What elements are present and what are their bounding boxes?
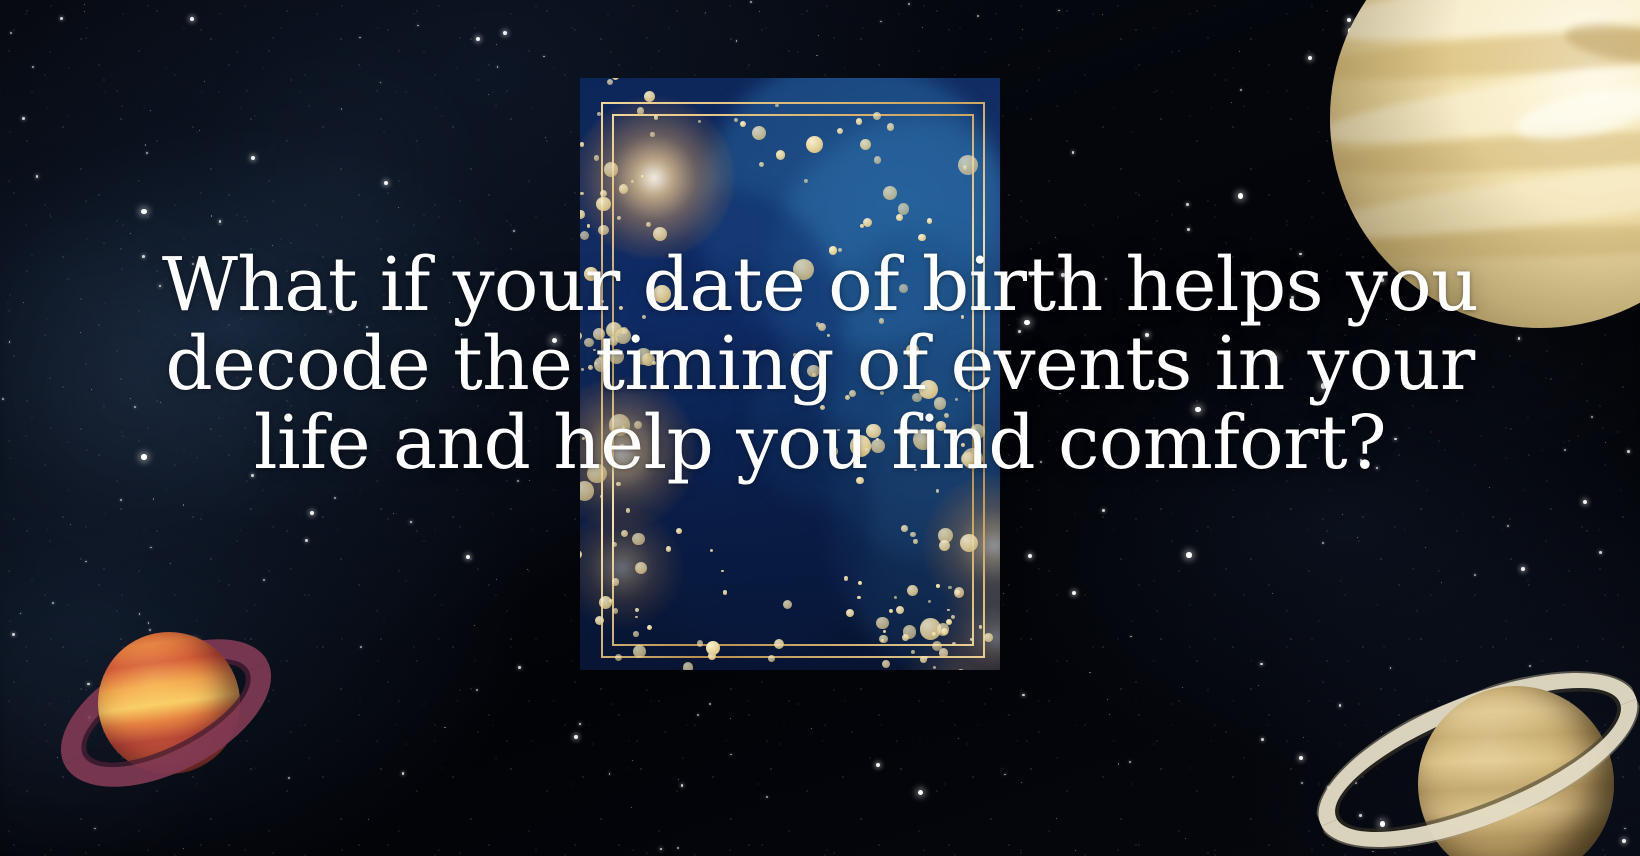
gold-speck — [604, 162, 619, 177]
gold-speck — [928, 600, 931, 603]
gold-speck — [698, 120, 701, 123]
saturn-bottom-right — [1300, 638, 1640, 856]
star — [1342, 514, 1343, 515]
gold-speck — [654, 115, 659, 120]
gold-speck — [587, 224, 590, 227]
gold-speck — [913, 539, 918, 544]
star — [150, 110, 151, 111]
star — [199, 130, 200, 131]
gold-speck — [632, 533, 645, 546]
star — [632, 760, 633, 761]
star — [360, 646, 362, 648]
star — [183, 504, 184, 505]
gold-speck — [734, 118, 738, 122]
gold-speck — [927, 218, 932, 223]
star — [697, 714, 699, 716]
gold-speck — [633, 645, 647, 659]
star — [146, 152, 148, 154]
gold-speck — [911, 650, 915, 654]
gold-speck — [768, 655, 775, 662]
gold-speck — [723, 590, 728, 595]
gold-speck — [882, 660, 890, 668]
gold-speck — [898, 203, 909, 214]
gold-speck — [846, 609, 854, 617]
gold-speck — [633, 631, 639, 637]
gold-speck — [580, 550, 582, 560]
star — [1357, 537, 1358, 538]
gold-speck — [860, 224, 864, 228]
star — [384, 181, 388, 185]
gold-speck — [902, 634, 909, 641]
gold-speck — [609, 599, 613, 603]
gold-speck — [740, 121, 746, 127]
gold-speck — [595, 616, 604, 625]
star — [141, 209, 147, 215]
gold-speck — [612, 542, 617, 547]
gold-speck — [948, 586, 952, 590]
gold-speck — [896, 214, 903, 221]
star — [398, 207, 399, 208]
gold-speck — [894, 596, 897, 599]
gold-speck — [954, 587, 965, 598]
gold-speck — [600, 495, 603, 498]
star — [1187, 228, 1190, 231]
gold-speck — [920, 656, 927, 663]
gold-speck — [597, 112, 602, 117]
gold-speck — [958, 155, 978, 175]
gold-speck — [951, 615, 955, 619]
saturn-bottom-left — [48, 598, 284, 830]
gold-speck — [600, 190, 607, 197]
star — [681, 784, 684, 787]
gold-speck — [910, 532, 915, 537]
gold-speck — [697, 640, 704, 647]
star — [10, 32, 12, 34]
star — [474, 625, 475, 626]
star — [1186, 552, 1192, 558]
gold-speck — [646, 222, 651, 227]
gold-speck — [844, 576, 849, 581]
gold-speck — [804, 179, 808, 183]
gold-speck — [644, 91, 655, 102]
star — [1583, 500, 1587, 504]
gold-speck — [932, 632, 936, 636]
gold-speck — [857, 596, 861, 600]
star — [305, 539, 308, 542]
gold-speck — [858, 581, 862, 585]
gold-speck — [776, 150, 785, 159]
gold-speck — [984, 633, 993, 642]
gold-speck — [580, 192, 584, 196]
gold-speck — [580, 142, 584, 147]
star — [1107, 699, 1108, 700]
star — [1261, 738, 1264, 741]
gold-speck — [598, 225, 609, 236]
gold-speck — [889, 609, 893, 613]
gold-speck — [952, 642, 956, 646]
star — [1258, 685, 1259, 686]
gold-speck — [683, 662, 694, 670]
star — [466, 555, 470, 559]
gold-speck — [580, 210, 585, 219]
gold-speck — [774, 639, 784, 649]
star — [1028, 554, 1032, 558]
star — [1109, 714, 1110, 715]
gold-speck — [635, 616, 638, 619]
gold-speck — [958, 669, 963, 670]
star — [32, 66, 34, 68]
star — [709, 703, 711, 705]
gold-speck — [594, 155, 599, 160]
star — [1102, 509, 1105, 512]
gold-speck — [637, 107, 644, 114]
gold-speck — [631, 180, 634, 183]
star — [476, 37, 480, 41]
gold-speck — [612, 78, 619, 80]
gold-speck — [860, 139, 871, 150]
gold-speck — [596, 197, 610, 211]
star — [341, 108, 342, 109]
gold-speck — [706, 641, 720, 655]
gold-speck — [863, 218, 872, 227]
gold-speck — [619, 184, 629, 194]
star — [1599, 551, 1602, 554]
gold-speck — [752, 126, 766, 140]
star — [60, 17, 63, 20]
slide-canvas: What if your date of birth helps you dec… — [0, 0, 1640, 856]
gold-speck — [650, 132, 654, 136]
star — [1322, 542, 1324, 544]
star — [977, 15, 979, 17]
gold-speck — [806, 136, 823, 153]
gold-speck — [580, 231, 589, 240]
gold-speck — [635, 608, 640, 613]
gold-speck — [613, 608, 618, 613]
star — [1521, 567, 1525, 571]
star — [1240, 89, 1242, 91]
star — [1186, 203, 1189, 206]
gold-speck — [607, 79, 613, 85]
star — [444, 727, 445, 728]
gold-speck — [666, 546, 671, 551]
gold-speck — [626, 508, 631, 513]
star — [1072, 151, 1075, 154]
star — [1129, 761, 1131, 763]
star — [513, 230, 515, 232]
star — [958, 738, 959, 739]
star — [677, 847, 679, 849]
gold-speck — [641, 175, 644, 178]
star — [211, 215, 212, 216]
star — [476, 689, 478, 691]
gold-speck — [933, 666, 936, 669]
gold-speck — [879, 635, 888, 644]
gold-speck — [635, 562, 647, 574]
gold-speck — [939, 648, 949, 658]
star — [816, 55, 817, 56]
star — [908, 3, 910, 5]
gold-speck — [621, 530, 628, 537]
gold-speck — [647, 625, 652, 630]
gold-speck — [615, 654, 623, 662]
star — [518, 666, 521, 669]
gold-speck — [936, 584, 940, 588]
star — [12, 633, 15, 636]
star — [120, 499, 122, 501]
gold-speck — [963, 165, 968, 170]
quote-text: What if your date of birth helps you dec… — [0, 246, 1640, 483]
star — [190, 17, 194, 21]
gold-speck — [901, 525, 908, 532]
star — [1238, 193, 1244, 199]
gold-speck — [874, 156, 882, 164]
gold-speck — [617, 216, 621, 220]
star — [263, 579, 265, 581]
gold-speck — [612, 578, 619, 585]
star — [368, 819, 369, 820]
gold-speck — [960, 534, 978, 552]
gold-speck — [856, 118, 862, 124]
star — [1102, 14, 1103, 15]
star — [1231, 102, 1232, 103]
